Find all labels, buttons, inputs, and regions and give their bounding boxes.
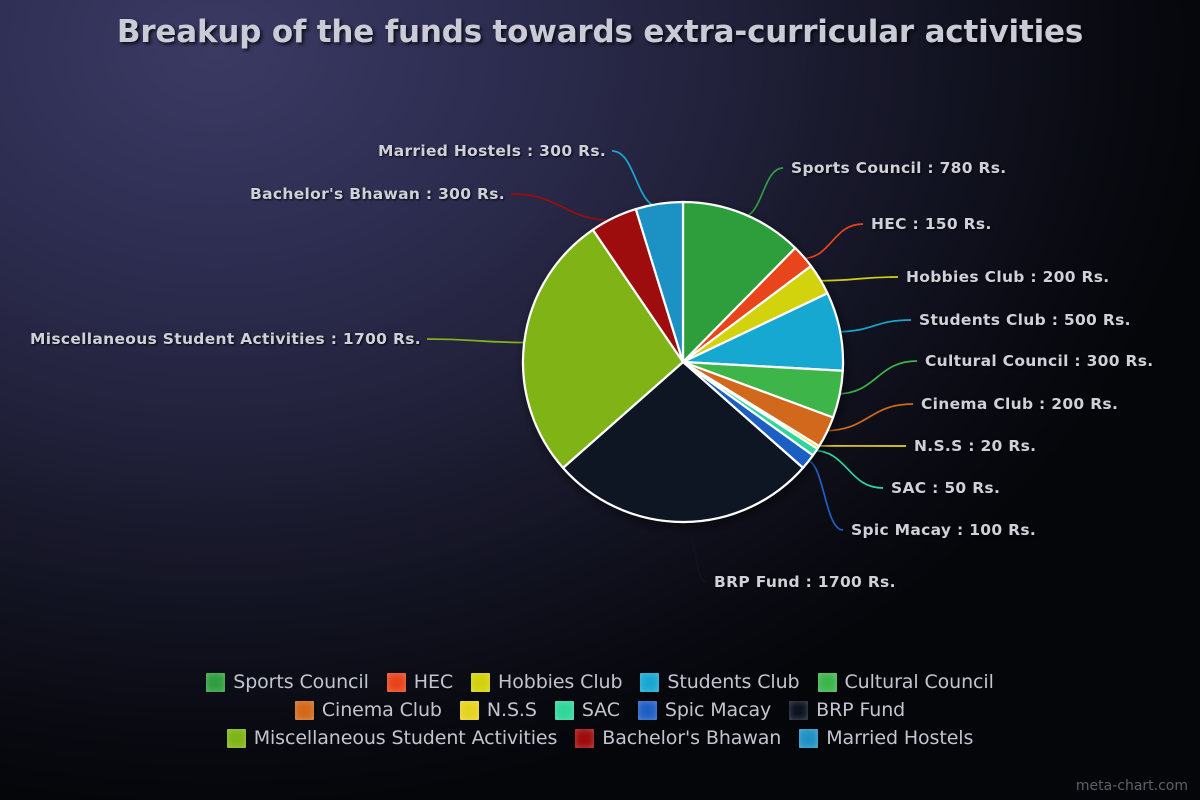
legend-label: N.S.S — [487, 699, 537, 721]
leader-line-hec — [801, 224, 863, 259]
leader-line-sac — [813, 450, 883, 488]
leader-line-brp-fund — [683, 519, 706, 582]
leader-line-bachelors-bhawan — [511, 194, 615, 221]
legend-row: Sports CouncilHECHobbies ClubStudents Cl… — [0, 668, 1200, 696]
legend-item[interactable]: Sports Council — [206, 671, 369, 693]
legend-label: HEC — [414, 671, 453, 693]
callout-sports-council: Sports Council : 780 Rs. — [791, 159, 1006, 177]
legend-swatch-icon — [555, 701, 574, 720]
legend-item[interactable]: Bachelor's Bhawan — [575, 727, 781, 749]
legend-item[interactable]: Students Club — [640, 671, 799, 693]
legend-label: BRP Fund — [816, 699, 905, 721]
callout-nss: N.S.S : 20 Rs. — [914, 437, 1036, 455]
legend-label: SAC — [582, 699, 620, 721]
legend-item[interactable]: Married Hostels — [799, 727, 973, 749]
legend-label: Spic Macay — [665, 699, 771, 721]
legend-item[interactable]: BRP Fund — [789, 699, 905, 721]
legend-swatch-icon — [460, 701, 479, 720]
callout-miscellaneous: Miscellaneous Student Activities : 1700 … — [30, 330, 421, 348]
legend-item[interactable]: HEC — [387, 671, 453, 693]
callout-bachelors-bhawan: Bachelor's Bhawan : 300 Rs. — [250, 185, 505, 203]
legend-swatch-icon — [387, 673, 406, 692]
legend-item[interactable]: Cultural Council — [818, 671, 994, 693]
legend-item[interactable]: Cinema Club — [295, 699, 442, 721]
leader-line-cinema-club — [824, 404, 913, 431]
leader-line-married-hostels — [612, 151, 660, 207]
legend-item[interactable]: SAC — [555, 699, 620, 721]
chart-legend: Sports CouncilHECHobbies ClubStudents Cl… — [0, 668, 1200, 752]
legend-label: Hobbies Club — [498, 671, 622, 693]
callout-students-club: Students Club : 500 Rs. — [919, 311, 1131, 329]
legend-swatch-icon — [206, 673, 225, 692]
leader-line-spic-macay — [806, 460, 843, 530]
legend-item[interactable]: Miscellaneous Student Activities — [227, 727, 558, 749]
legend-label: Cultural Council — [845, 671, 994, 693]
legend-swatch-icon — [799, 729, 818, 748]
callout-spic-macay: Spic Macay : 100 Rs. — [851, 521, 1036, 539]
legend-label: Students Club — [667, 671, 799, 693]
legend-swatch-icon — [638, 701, 657, 720]
callout-cultural-council: Cultural Council : 300 Rs. — [925, 352, 1153, 370]
legend-row: Cinema ClubN.S.SSACSpic MacayBRP Fund — [0, 696, 1200, 724]
pie-slices: Sports Council : 780 Rs.HEC : 150 Rs.Hob… — [523, 202, 843, 522]
chart-canvas: Breakup of the funds towards extra-curri… — [0, 0, 1200, 800]
legend-swatch-icon — [227, 729, 246, 748]
callout-married-hostels: Married Hostels : 300 Rs. — [378, 142, 606, 160]
leader-line-sports-council — [743, 168, 784, 217]
callout-hobbies-club: Hobbies Club : 200 Rs. — [906, 268, 1109, 286]
callout-brp-fund: BRP Fund : 1700 Rs. — [714, 573, 896, 591]
legend-swatch-icon — [295, 701, 314, 720]
callout-cinema-club: Cinema Club : 200 Rs. — [921, 395, 1118, 413]
callout-sac: SAC : 50 Rs. — [891, 479, 1000, 497]
legend-swatch-icon — [789, 701, 808, 720]
legend-row: Miscellaneous Student ActivitiesBachelor… — [0, 724, 1200, 752]
legend-swatch-icon — [575, 729, 594, 748]
legend-label: Bachelor's Bhawan — [602, 727, 781, 749]
legend-label: Cinema Club — [322, 699, 442, 721]
legend-item[interactable]: N.S.S — [460, 699, 537, 721]
leader-line-students-club — [837, 320, 911, 332]
legend-swatch-icon — [471, 673, 490, 692]
leader-line-cultural-council — [837, 361, 917, 394]
callout-hec: HEC : 150 Rs. — [871, 215, 992, 233]
legend-swatch-icon — [640, 673, 659, 692]
leader-line-miscellaneous — [427, 339, 527, 343]
legend-label: Miscellaneous Student Activities — [254, 727, 558, 749]
leader-line-hobbies-club — [817, 277, 898, 281]
legend-item[interactable]: Hobbies Club — [471, 671, 622, 693]
legend-item[interactable]: Spic Macay — [638, 699, 771, 721]
legend-label: Sports Council — [233, 671, 369, 693]
pie-chart-area: Sports Council : 780 Rs.HEC : 150 Rs.Hob… — [0, 0, 1200, 640]
legend-swatch-icon — [818, 673, 837, 692]
legend-label: Married Hostels — [826, 727, 973, 749]
watermark: meta-chart.com — [1076, 778, 1188, 794]
